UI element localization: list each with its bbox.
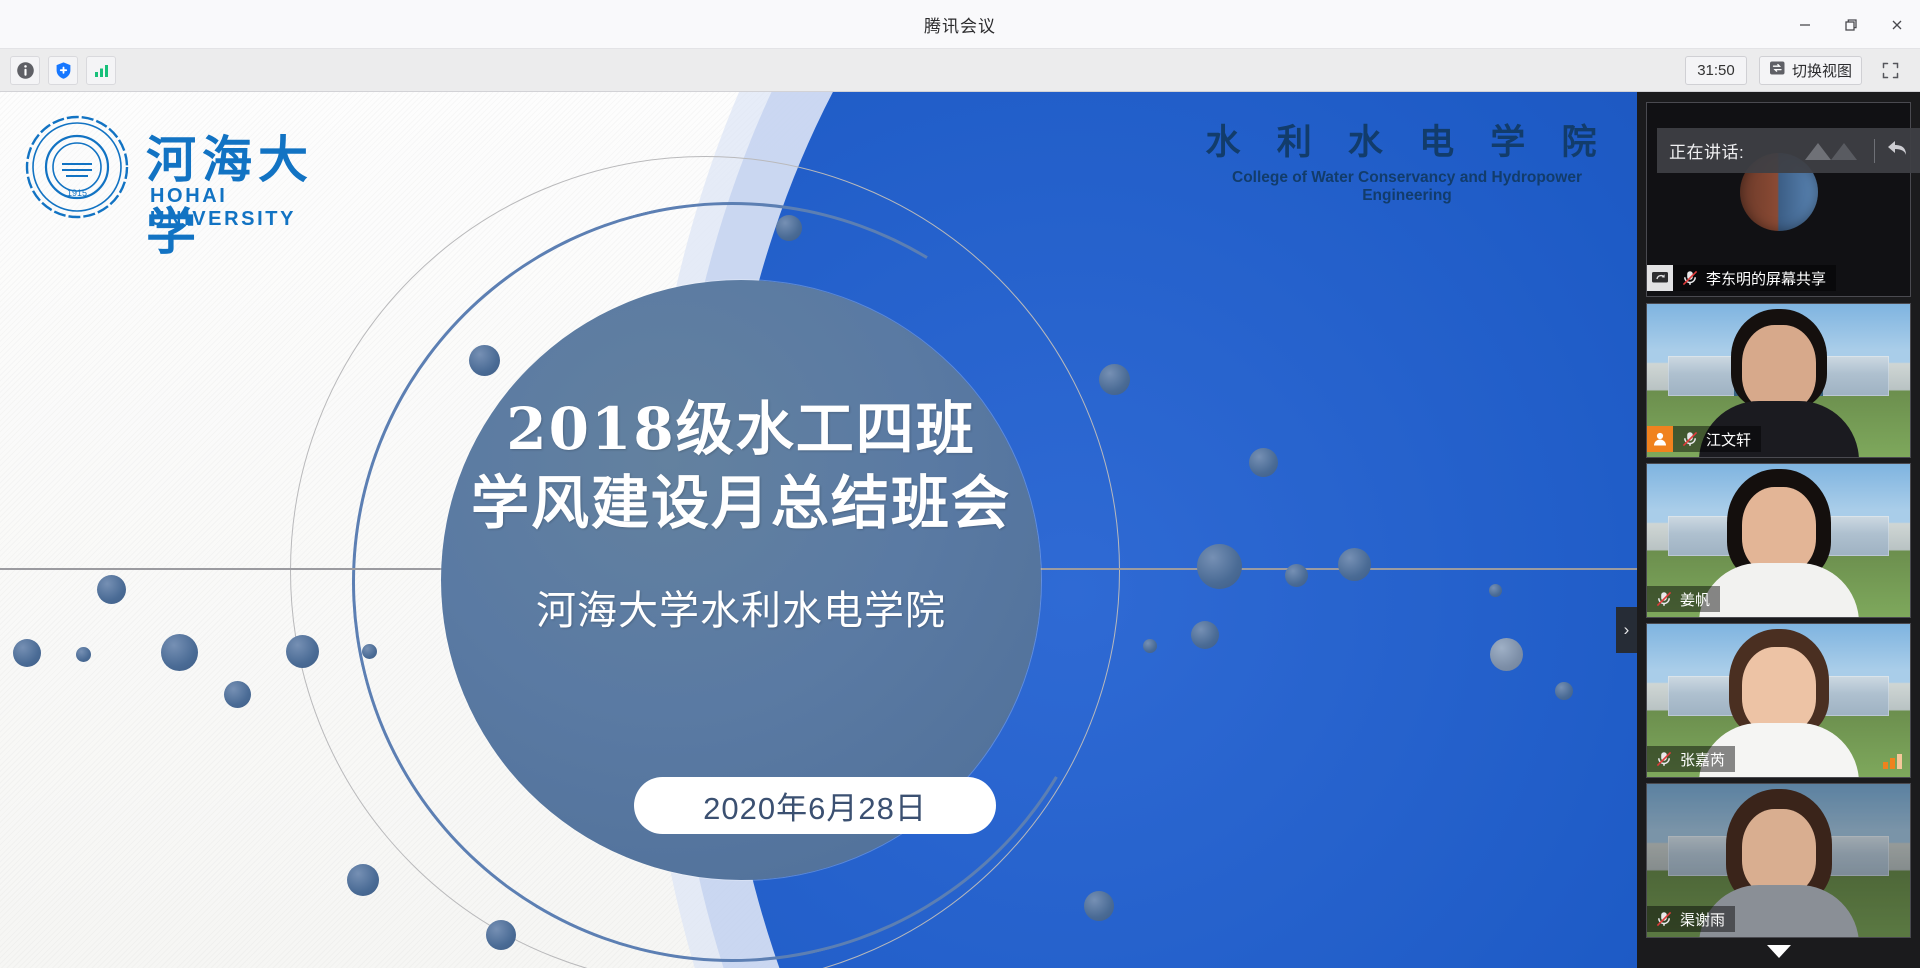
switch-view-button[interactable]: 切换视图: [1759, 56, 1862, 85]
participant-tile[interactable]: 姜帆: [1646, 463, 1911, 618]
slide-dot: [1489, 584, 1502, 597]
university-logo: 1915 河海大学 HOHAI UNIVERSITY: [22, 112, 362, 232]
slide-dot: [347, 864, 379, 896]
slide-subtitle: 河海大学水利水电学院: [441, 578, 1041, 636]
participant-tile[interactable]: 张嘉芮: [1646, 623, 1911, 778]
participant-nametag: 李东明的屏幕共享: [1647, 265, 1836, 291]
slide-dot: [469, 345, 500, 376]
slide-title-line1: 2018级水工四班: [441, 392, 1041, 466]
mic-muted-icon: [1681, 430, 1699, 448]
slide-dot: [76, 647, 91, 662]
mic-muted-icon: [1655, 590, 1673, 608]
meeting-toolbar: 31:50 切换视图: [0, 49, 1920, 92]
presentation-slide: 1915 河海大学 HOHAI UNIVERSITY 水 利 水 电 学 院 C…: [0, 92, 1637, 968]
slide-dot: [1249, 448, 1278, 477]
slide-dot: [1099, 364, 1130, 395]
return-arrow-icon[interactable]: [1886, 138, 1908, 163]
svg-text:1915: 1915: [67, 188, 87, 198]
slide-dot: [97, 575, 126, 604]
participant-name: 渠谢雨: [1680, 909, 1725, 930]
meeting-window: 腾讯会议: [0, 0, 1920, 968]
scroll-down-arrow-icon[interactable]: [1637, 936, 1920, 966]
slide-dot: [1143, 639, 1157, 653]
info-icon[interactable]: [10, 56, 40, 85]
window-title: 腾讯会议: [924, 12, 996, 37]
mic-muted-icon: [1655, 750, 1673, 768]
window-titlebar: 腾讯会议: [0, 0, 1920, 49]
active-speaker-bar: 正在讲话:: [1657, 128, 1920, 173]
window-controls: [1782, 0, 1920, 49]
participant-nametag: 江文轩: [1647, 426, 1761, 452]
network-signal-icon[interactable]: [86, 56, 116, 85]
restore-button[interactable]: [1828, 0, 1874, 49]
slide-title-block: 2018级水工四班 学风建设月总结班会 河海大学水利水电学院: [441, 392, 1041, 636]
expand-panel-chevron-icon[interactable]: ›: [1616, 607, 1637, 653]
fullscreen-icon[interactable]: [1874, 56, 1906, 85]
participant-name: 李东明的屏幕共享: [1706, 268, 1826, 289]
screen-share-icon: [1647, 265, 1673, 291]
switch-view-icon: [1769, 60, 1786, 81]
participant-rail: 正在讲话:: [1637, 92, 1920, 968]
slide-dot: [776, 215, 802, 241]
participant-name: 张嘉芮: [1680, 749, 1725, 770]
toolbar-left-icons: [0, 56, 116, 85]
host-icon: [1647, 426, 1673, 452]
close-button[interactable]: [1874, 0, 1920, 49]
slide-dot: [1084, 891, 1114, 921]
slide-dot: [1197, 544, 1242, 589]
participant-avatar: [1699, 469, 1859, 617]
divider: [1874, 139, 1875, 163]
slide-dot: [224, 681, 251, 708]
university-name-en: HOHAI UNIVERSITY: [150, 185, 362, 231]
slide-dot: [1555, 682, 1573, 700]
slide-dot: [1285, 564, 1308, 587]
slide-dot: [486, 920, 516, 950]
minimize-button[interactable]: [1782, 0, 1828, 49]
participant-nametag: 渠谢雨: [1647, 906, 1735, 932]
participant-nametag: 姜帆: [1647, 586, 1720, 612]
mic-muted-icon: [1681, 269, 1699, 287]
shield-plus-icon[interactable]: [48, 56, 78, 85]
slide-dot: [13, 639, 41, 667]
hohai-seal-icon: 1915: [22, 112, 132, 222]
college-heading: 水 利 水 电 学 院 College of Water Conservancy…: [1197, 114, 1617, 205]
slide-dot: [1490, 638, 1523, 671]
toolbar-right-controls: 31:50 切换视图: [1685, 56, 1920, 85]
mic-muted-icon: [1655, 910, 1673, 928]
participant-tile[interactable]: 江文轩: [1646, 303, 1911, 458]
slide-dot: [161, 634, 198, 671]
app-watermark-logo-icon: [1801, 138, 1863, 164]
participant-name: 姜帆: [1680, 589, 1710, 610]
active-speaker-label: 正在讲话:: [1669, 138, 1744, 163]
participant-name: 江文轩: [1706, 429, 1751, 450]
slide-dot: [1338, 548, 1371, 581]
network-signal-icon: [1883, 754, 1902, 769]
college-name-en: College of Water Conservancy and Hydropo…: [1197, 169, 1617, 205]
college-name-zh: 水 利 水 电 学 院: [1197, 114, 1617, 165]
slide-title-line2: 学风建设月总结班会: [441, 466, 1041, 540]
meeting-timer: 31:50: [1685, 56, 1747, 85]
slide-dot: [362, 644, 377, 659]
participant-nametag: 张嘉芮: [1647, 746, 1735, 772]
shared-screen-stage[interactable]: 1915 河海大学 HOHAI UNIVERSITY 水 利 水 电 学 院 C…: [0, 92, 1637, 968]
slide-date-badge: 2020年6月28日: [634, 777, 996, 834]
slide-dot: [286, 635, 319, 668]
switch-view-label: 切换视图: [1792, 60, 1852, 81]
slide-dot: [1191, 621, 1219, 649]
participant-tile[interactable]: 渠谢雨: [1646, 783, 1911, 938]
